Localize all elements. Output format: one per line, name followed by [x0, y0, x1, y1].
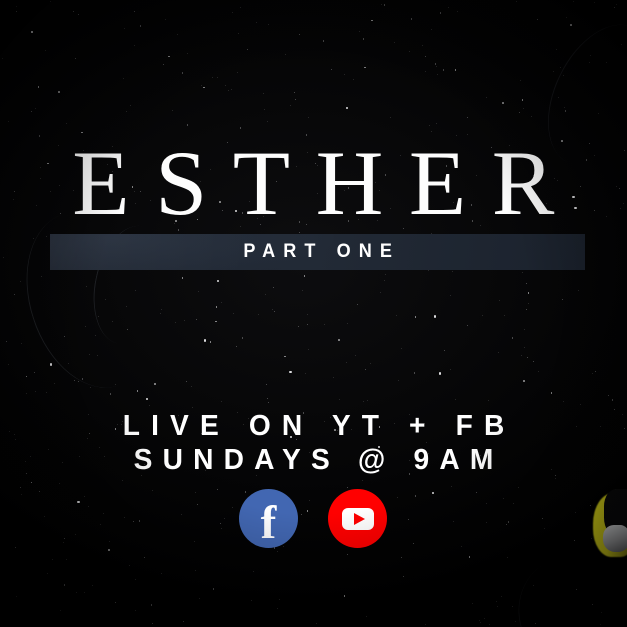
youtube-icon[interactable]: [328, 489, 387, 548]
facebook-f-glyph: f: [261, 500, 277, 547]
page-title: ESTHER: [47, 138, 580, 228]
youtube-play-glyph: [342, 508, 374, 530]
title-container: ESTHER: [0, 138, 627, 228]
broadcast-line-1: LIVE ON YT + FB: [9, 409, 617, 443]
facebook-icon[interactable]: f: [239, 489, 298, 548]
broadcast-info: LIVE ON YT + FB SUNDAYS @ 9AM: [0, 409, 627, 477]
event-poster: ESTHER PART ONE LIVE ON YT + FB SUNDAYS …: [0, 0, 627, 627]
social-links: f: [239, 489, 389, 549]
broadcast-line-2: SUNDAYS @ 9AM: [9, 443, 617, 477]
part-label: PART ONE: [235, 241, 400, 263]
part-banner: PART ONE: [50, 234, 585, 270]
